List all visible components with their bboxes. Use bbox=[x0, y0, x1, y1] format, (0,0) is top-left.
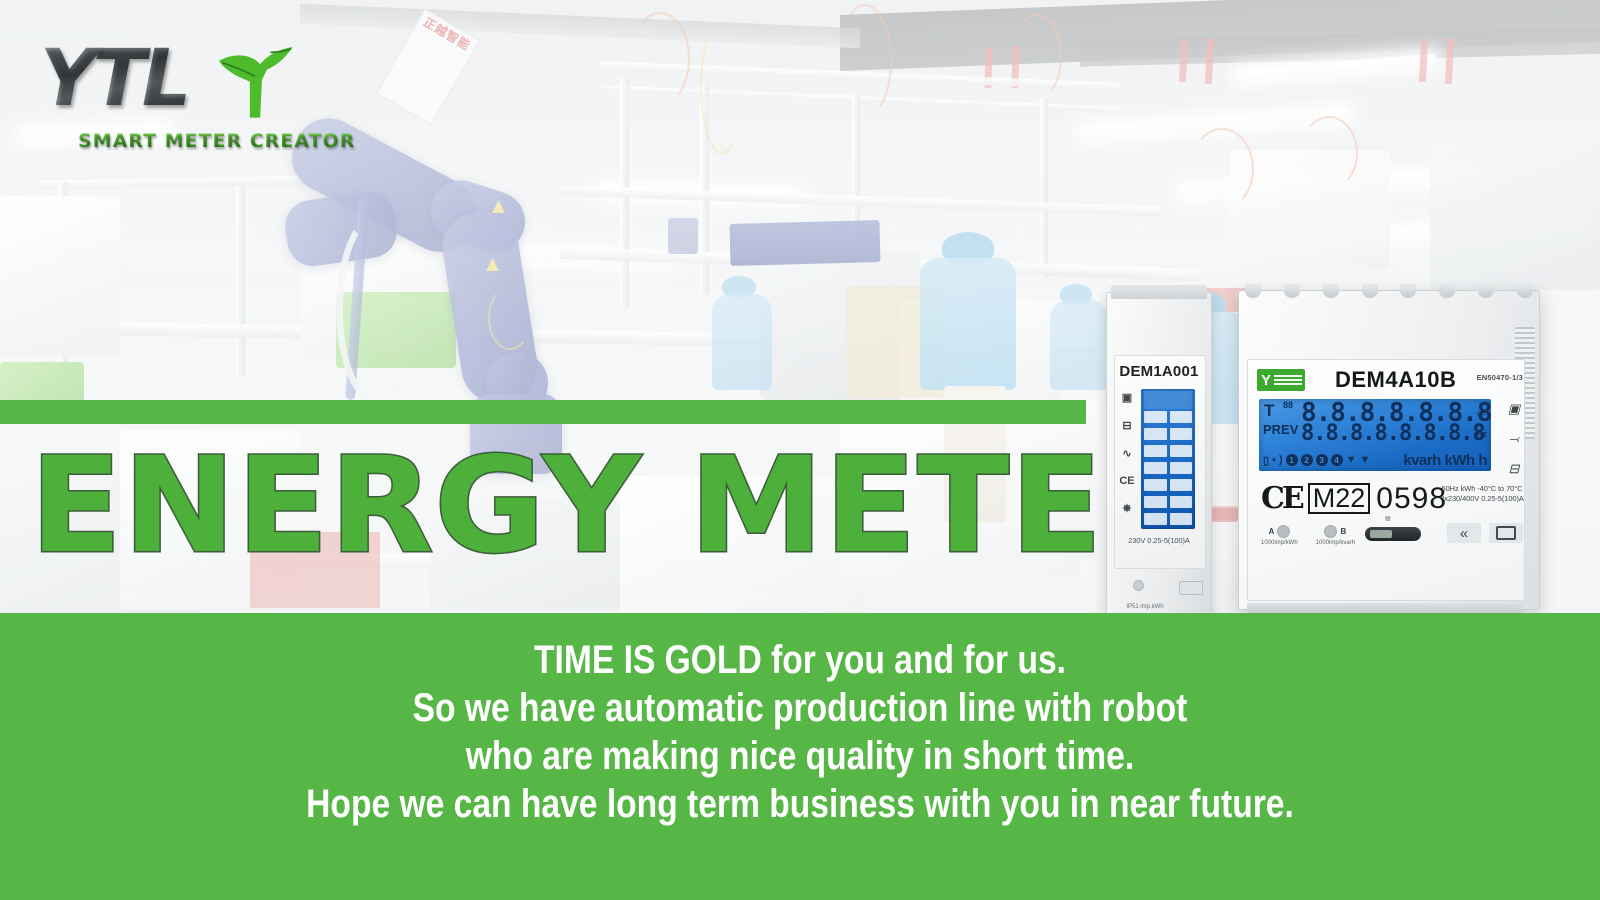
brand-tagline: SMART METER CREATOR bbox=[78, 130, 355, 152]
meter-left-led-indicator bbox=[1133, 580, 1144, 591]
promo-banner: 正越智能 YTL bbox=[0, 0, 1600, 900]
meter-left-side-icons: ▣ ⊟ ∿ CE ✵ bbox=[1117, 391, 1137, 530]
battery-icon: ▯ bbox=[1263, 454, 1269, 467]
display-icon: ▣ bbox=[1117, 391, 1137, 404]
meter-right-standard-label: EN50470-1/3 bbox=[1477, 373, 1523, 382]
page-title: ENERGY METER bbox=[30, 440, 1101, 580]
green-bird-icon bbox=[212, 42, 298, 128]
lcd-tariff-digits: 88 bbox=[1283, 401, 1293, 409]
certification-icon: ✵ bbox=[1117, 502, 1137, 515]
lock-icon: ⊟ bbox=[1503, 461, 1525, 477]
meter-left-rating-label: 230V 0.25-5(100)A bbox=[1114, 536, 1204, 545]
meter-right-terminal-screws bbox=[1245, 284, 1533, 298]
meter-right-model-label: DEM4A10B bbox=[1335, 367, 1456, 393]
meter-left-footer-note: IP51 imp.kWh bbox=[1115, 604, 1175, 612]
product-meter-dem1a001: DEM1A001 ▣ ⊟ ∿ CE ✵ 230V 0.25-5(100)A IP… bbox=[1106, 292, 1212, 618]
product-meter-dem4a10b: Y DEM4A10B EN50470-1/3 T 88 PREV 8.8.8.8… bbox=[1238, 290, 1540, 610]
optical-port-icon bbox=[1365, 527, 1421, 541]
warning-triangle-icon: ⚠ bbox=[1476, 405, 1486, 418]
message-line-3: who are making nice quality in short tim… bbox=[128, 732, 1472, 780]
message-line-1: TIME IS GOLD for you and for us. bbox=[128, 636, 1472, 684]
brand-name: YTL bbox=[40, 40, 187, 118]
ce-mark-icon: CE bbox=[1261, 481, 1302, 516]
led-b-label: B bbox=[1340, 527, 1346, 536]
display-icon: ▣ bbox=[1503, 401, 1525, 417]
message-line-2: So we have automatic production line wit… bbox=[128, 684, 1472, 732]
direction-down-icon-2: ▼ bbox=[1360, 454, 1371, 466]
meter-right-lcd-display: T 88 PREV 8.8.8.8.8.8.8.8 8.8.8.8.8.8.8.… bbox=[1259, 399, 1491, 471]
pulse-icon: ∿ bbox=[1117, 447, 1137, 460]
led-a-indicator bbox=[1277, 525, 1290, 538]
message-line-4: Hope we can have long term business with… bbox=[128, 780, 1472, 828]
meter-left-lcd-display bbox=[1141, 389, 1195, 529]
phase-2-icon: 2 bbox=[1301, 454, 1313, 466]
meter-left-button[interactable] bbox=[1179, 581, 1203, 595]
direction-down-icon-1: ▼ bbox=[1346, 454, 1357, 466]
three-phase-icon: ⤙ bbox=[1503, 431, 1525, 447]
led-b-indicator bbox=[1324, 525, 1337, 538]
led-b-caption: 1000imp/kvarh bbox=[1316, 540, 1355, 546]
meter-right-faceplate bbox=[1247, 359, 1525, 601]
message-text: TIME IS GOLD for you and for us. So we h… bbox=[128, 636, 1472, 828]
mid-year-badge: M22 bbox=[1308, 483, 1371, 514]
lock-icon: ⊟ bbox=[1117, 419, 1137, 432]
lcd-prev-label: PREV bbox=[1263, 423, 1298, 436]
display-button[interactable] bbox=[1489, 523, 1523, 543]
phase-4-icon: 4 bbox=[1331, 454, 1343, 466]
meter-left-terminal-block bbox=[1111, 285, 1207, 299]
green-accent-bar bbox=[0, 400, 1086, 424]
meter-right-base bbox=[1247, 603, 1523, 613]
meter-right-led-indicators: A 1000imp/kWh B 1000imp/kvarh bbox=[1261, 525, 1355, 546]
lcd-tariff-label: T bbox=[1264, 402, 1274, 419]
led-a-label: A bbox=[1268, 527, 1274, 536]
ce-mark-icon: CE bbox=[1117, 475, 1137, 487]
phase-3-icon: 3 bbox=[1316, 454, 1328, 466]
lcd-frequency-unit: Hz bbox=[1476, 429, 1487, 439]
phase-1-icon: 1 bbox=[1286, 454, 1298, 466]
meter-right-spec-label: 50Hz kWh -40°C to 70°C 3x230/400V 0.25-5… bbox=[1439, 484, 1525, 504]
lcd-units-label: kvarh kWh h bbox=[1403, 452, 1487, 469]
meter-right-side-icons: ▣ ⤙ ⊟ bbox=[1503, 401, 1525, 491]
back-button[interactable]: « bbox=[1447, 523, 1481, 543]
meter-right-certification-marks: CE M22 0598 bbox=[1261, 481, 1447, 516]
optical-port-label: ▤ bbox=[1385, 515, 1391, 522]
led-a-caption: 1000imp/kWh bbox=[1261, 540, 1298, 546]
signal-icon: ) bbox=[1279, 454, 1283, 466]
brand-logo: YTL SMART METER CREATOR bbox=[34, 34, 296, 156]
ytl-green-badge: Y bbox=[1257, 369, 1305, 391]
meter-left-model-label: DEM1A001 bbox=[1114, 363, 1204, 380]
lcd-secondary-digits: 8.8.8.8.8.8.8.8 bbox=[1301, 423, 1485, 445]
lock-closed-icon: ▪ bbox=[1272, 454, 1276, 466]
display-button-icon bbox=[1496, 526, 1516, 540]
lcd-status-row: ▯ ▪ ) 1 2 3 4 ▼ ▼ kvarh kWh h bbox=[1263, 451, 1487, 469]
notified-body-number: 0598 bbox=[1376, 482, 1447, 516]
